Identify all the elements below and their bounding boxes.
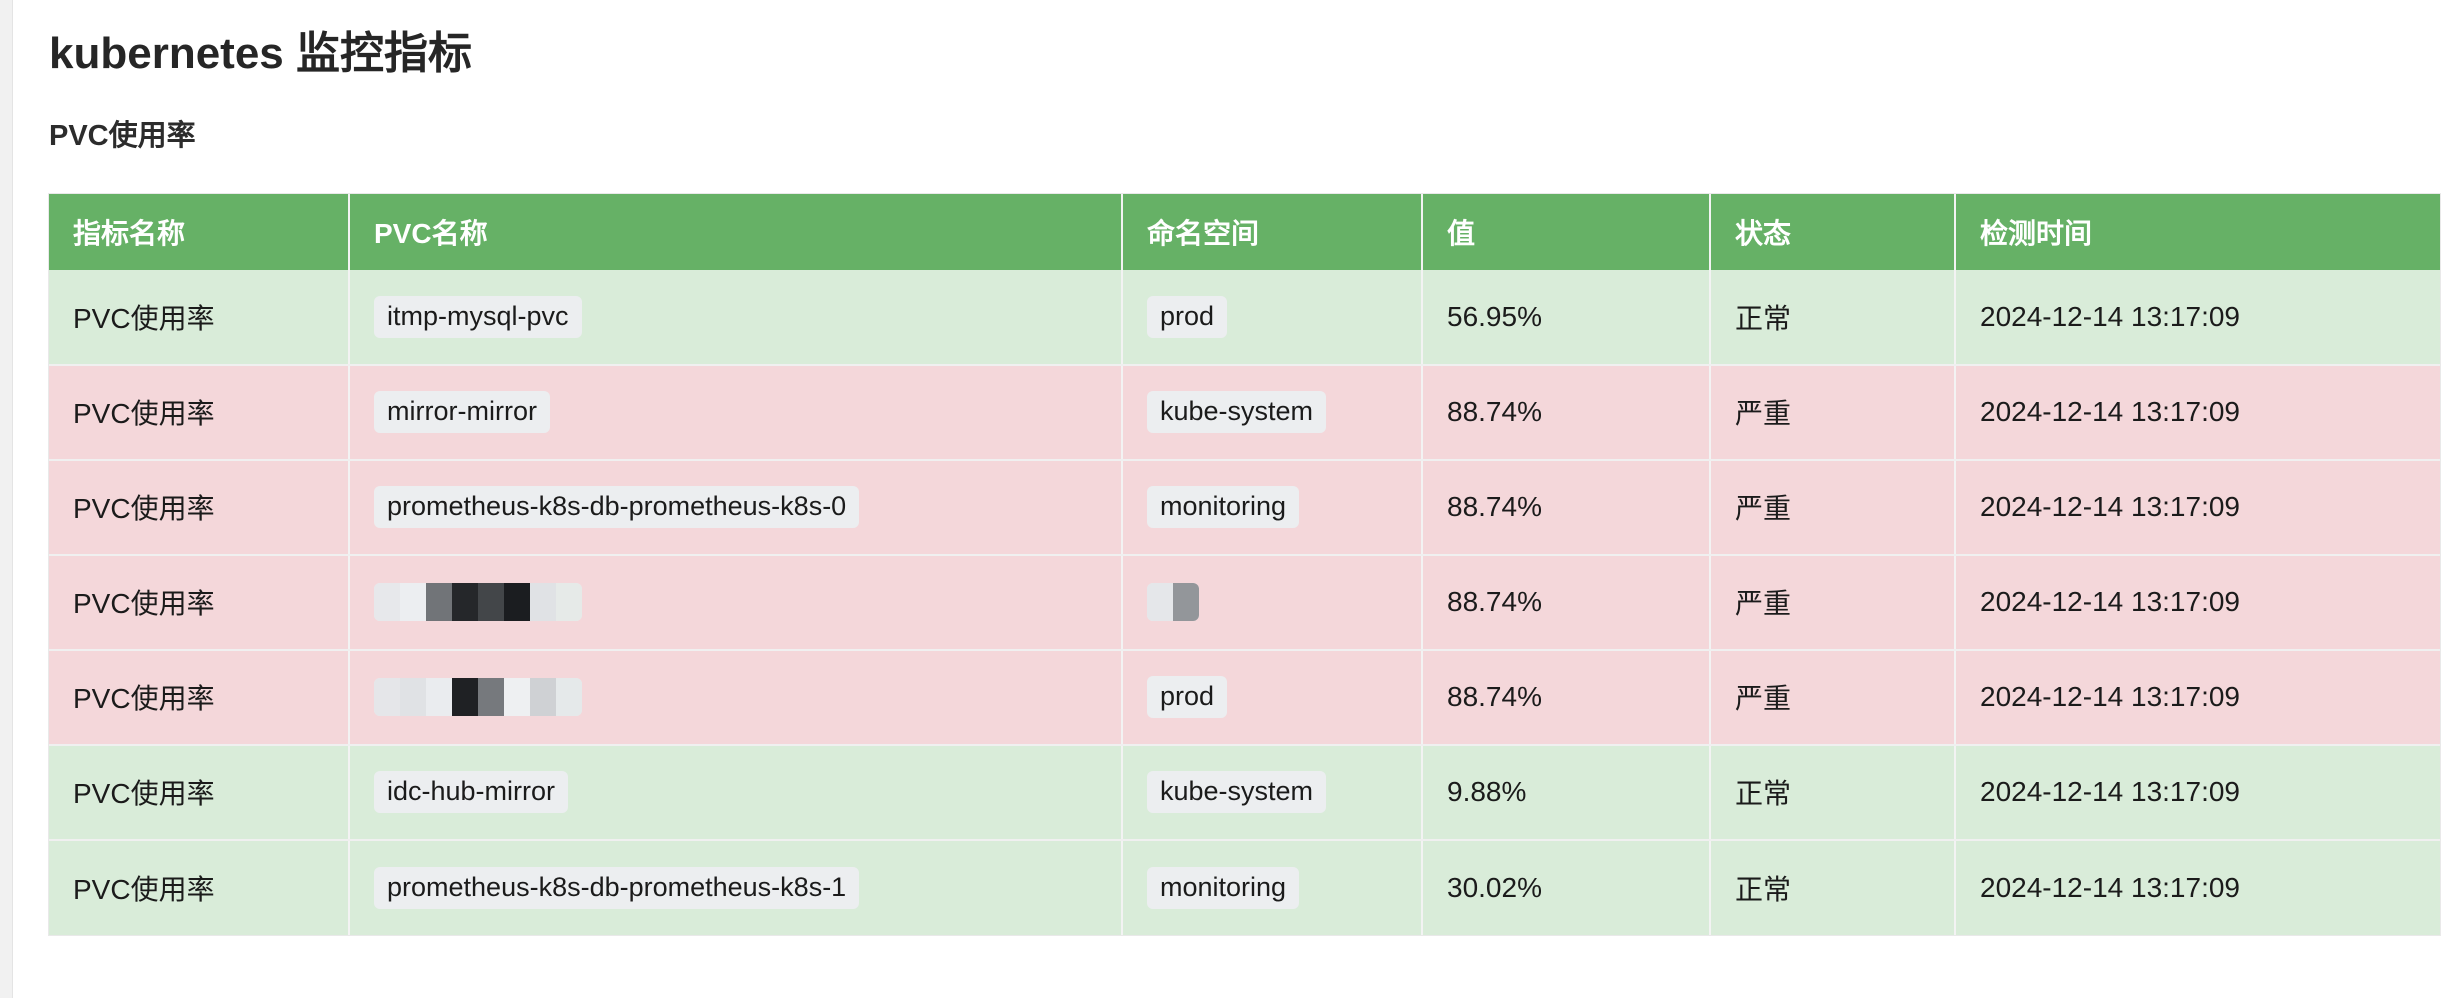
cell-status: 严重 — [1710, 555, 1955, 650]
redacted-mosaic — [374, 678, 582, 716]
cell-value: 56.95% — [1422, 270, 1710, 365]
pvc-usage-table: 指标名称PVC名称命名空间值状态检测时间 PVC使用率itmp-mysql-pv… — [49, 194, 2440, 935]
table-row[interactable]: PVC使用率prod88.74%严重2024-12-14 13:17:09 — [49, 650, 2440, 745]
column-header-status[interactable]: 状态 — [1710, 194, 1955, 270]
cell-pvc-name — [349, 555, 1122, 650]
pvc-name-chip-redacted — [374, 678, 582, 716]
cell-value: 30.02% — [1422, 840, 1710, 935]
table-body: PVC使用率itmp-mysql-pvcprod56.95%正常2024-12-… — [49, 270, 2440, 935]
table-row[interactable]: PVC使用率88.74%严重2024-12-14 13:17:09 — [49, 555, 2440, 650]
pvc-name-chip: itmp-mysql-pvc — [374, 296, 582, 338]
cell-status: 严重 — [1710, 460, 1955, 555]
column-header-namespace[interactable]: 命名空间 — [1122, 194, 1422, 270]
cell-status: 严重 — [1710, 365, 1955, 460]
namespace-chip: monitoring — [1147, 867, 1299, 909]
cell-value: 88.74% — [1422, 365, 1710, 460]
cell-value: 9.88% — [1422, 745, 1710, 840]
namespace-chip: monitoring — [1147, 486, 1299, 528]
cell-namespace: monitoring — [1122, 460, 1422, 555]
page-content: kubernetes 监控指标 PVC使用率 指标名称PVC名称命名空间值状态检… — [13, 0, 2460, 998]
cell-pvc-name: prometheus-k8s-db-prometheus-k8s-1 — [349, 840, 1122, 935]
table-row[interactable]: PVC使用率idc-hub-mirrorkube-system9.88%正常20… — [49, 745, 2440, 840]
namespace-chip-redacted — [1147, 583, 1199, 621]
namespace-chip: kube-system — [1147, 391, 1326, 433]
cell-pvc-name: itmp-mysql-pvc — [349, 270, 1122, 365]
cell-metric-name: PVC使用率 — [49, 270, 349, 365]
table-row[interactable]: PVC使用率mirror-mirrorkube-system88.74%严重20… — [49, 365, 2440, 460]
cell-metric-name: PVC使用率 — [49, 365, 349, 460]
column-header-pvc[interactable]: PVC名称 — [349, 194, 1122, 270]
cell-metric-name: PVC使用率 — [49, 555, 349, 650]
section-title: PVC使用率 — [13, 81, 2460, 154]
cell-pvc-name: mirror-mirror — [349, 365, 1122, 460]
cell-detect-time: 2024-12-14 13:17:09 — [1955, 365, 2440, 460]
cell-metric-name: PVC使用率 — [49, 650, 349, 745]
cell-detect-time: 2024-12-14 13:17:09 — [1955, 555, 2440, 650]
cell-status: 正常 — [1710, 840, 1955, 935]
table-row[interactable]: PVC使用率itmp-mysql-pvcprod56.95%正常2024-12-… — [49, 270, 2440, 365]
column-header-time[interactable]: 检测时间 — [1955, 194, 2440, 270]
column-header-value[interactable]: 值 — [1422, 194, 1710, 270]
namespace-chip: prod — [1147, 296, 1227, 338]
cell-value: 88.74% — [1422, 555, 1710, 650]
cell-pvc-name: idc-hub-mirror — [349, 745, 1122, 840]
cell-namespace — [1122, 555, 1422, 650]
namespace-chip: kube-system — [1147, 771, 1326, 813]
left-gutter-strip — [0, 0, 13, 998]
cell-pvc-name — [349, 650, 1122, 745]
table-row[interactable]: PVC使用率prometheus-k8s-db-prometheus-k8s-0… — [49, 460, 2440, 555]
cell-detect-time: 2024-12-14 13:17:09 — [1955, 840, 2440, 935]
cell-namespace: prod — [1122, 650, 1422, 745]
redacted-mosaic — [1147, 583, 1199, 621]
pvc-name-chip: mirror-mirror — [374, 391, 550, 433]
table-header: 指标名称PVC名称命名空间值状态检测时间 — [49, 194, 2440, 270]
cell-metric-name: PVC使用率 — [49, 460, 349, 555]
cell-metric-name: PVC使用率 — [49, 840, 349, 935]
cell-value: 88.74% — [1422, 650, 1710, 745]
namespace-chip: prod — [1147, 676, 1227, 718]
table-header-row: 指标名称PVC名称命名空间值状态检测时间 — [49, 194, 2440, 270]
redacted-mosaic — [374, 583, 582, 621]
page-title: kubernetes 监控指标 — [13, 0, 2460, 81]
cell-detect-time: 2024-12-14 13:17:09 — [1955, 460, 2440, 555]
cell-namespace: kube-system — [1122, 365, 1422, 460]
column-header-metric[interactable]: 指标名称 — [49, 194, 349, 270]
cell-pvc-name: prometheus-k8s-db-prometheus-k8s-0 — [349, 460, 1122, 555]
metrics-table-container: 指标名称PVC名称命名空间值状态检测时间 PVC使用率itmp-mysql-pv… — [13, 154, 2403, 935]
cell-detect-time: 2024-12-14 13:17:09 — [1955, 650, 2440, 745]
cell-namespace: kube-system — [1122, 745, 1422, 840]
pvc-name-chip: idc-hub-mirror — [374, 771, 568, 813]
cell-status: 正常 — [1710, 270, 1955, 365]
cell-detect-time: 2024-12-14 13:17:09 — [1955, 270, 2440, 365]
pvc-name-chip-redacted — [374, 583, 582, 621]
cell-namespace: monitoring — [1122, 840, 1422, 935]
table-row[interactable]: PVC使用率prometheus-k8s-db-prometheus-k8s-1… — [49, 840, 2440, 935]
cell-namespace: prod — [1122, 270, 1422, 365]
pvc-name-chip: prometheus-k8s-db-prometheus-k8s-0 — [374, 486, 859, 528]
cell-metric-name: PVC使用率 — [49, 745, 349, 840]
cell-value: 88.74% — [1422, 460, 1710, 555]
pvc-name-chip: prometheus-k8s-db-prometheus-k8s-1 — [374, 867, 859, 909]
cell-status: 正常 — [1710, 745, 1955, 840]
cell-detect-time: 2024-12-14 13:17:09 — [1955, 745, 2440, 840]
cell-status: 严重 — [1710, 650, 1955, 745]
